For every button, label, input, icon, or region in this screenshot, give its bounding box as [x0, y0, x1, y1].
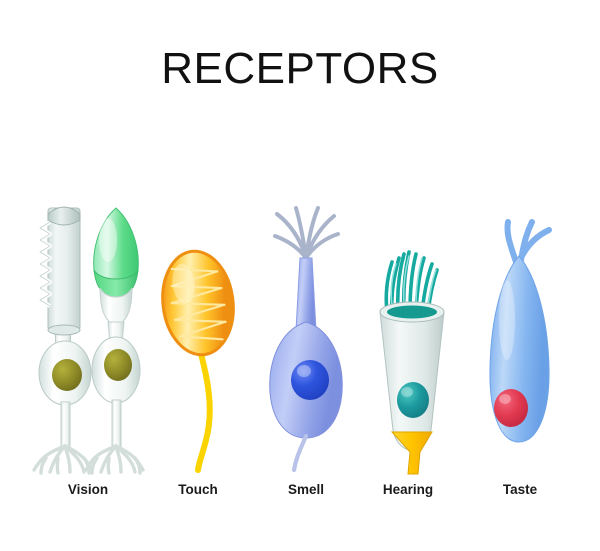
receptor-label-hearing: Hearing — [348, 482, 468, 497]
olfactory-cilia — [275, 208, 338, 258]
rod-base-rim — [48, 325, 80, 335]
cuticular-plate-inner — [387, 306, 437, 319]
receptor-label-touch: Touch — [138, 482, 258, 497]
receptor-vision — [34, 207, 143, 473]
rod-nucleus — [52, 359, 82, 391]
rod-axon — [61, 402, 70, 448]
rod-outer-segment — [48, 208, 80, 330]
taste-body-highlight — [499, 280, 515, 360]
taste-nucleus-highlight — [499, 394, 511, 404]
cone-nucleus — [104, 349, 132, 381]
smell-axon — [294, 436, 306, 470]
receptor-label-taste: Taste — [460, 482, 580, 497]
smell-nucleus — [291, 360, 329, 400]
taste-nucleus — [494, 389, 528, 427]
rod-photoreceptor — [34, 207, 92, 473]
smell-nucleus-highlight — [297, 365, 311, 377]
afferent-nerve-fiber — [392, 432, 432, 474]
touch-axon — [198, 350, 210, 470]
hearing-nucleus-highlight — [401, 387, 413, 397]
olfactory-dendrite — [296, 258, 316, 330]
rod-synaptic-terminal — [34, 446, 92, 473]
page-title: RECEPTORS — [0, 44, 600, 94]
receptor-touch — [157, 247, 239, 470]
taste-microvilli — [507, 222, 549, 262]
hearing-nucleus — [397, 382, 429, 418]
cone-photoreceptor — [86, 208, 143, 473]
hair-cell-body — [380, 312, 444, 450]
cone-axon — [112, 400, 121, 448]
receptor-smell — [270, 208, 342, 470]
receptor-hearing — [380, 252, 444, 474]
receptor-label-vision: Vision — [28, 482, 148, 497]
receptor-taste — [490, 222, 549, 442]
cone-synaptic-terminal — [86, 446, 143, 473]
cone-highlight — [99, 218, 117, 262]
